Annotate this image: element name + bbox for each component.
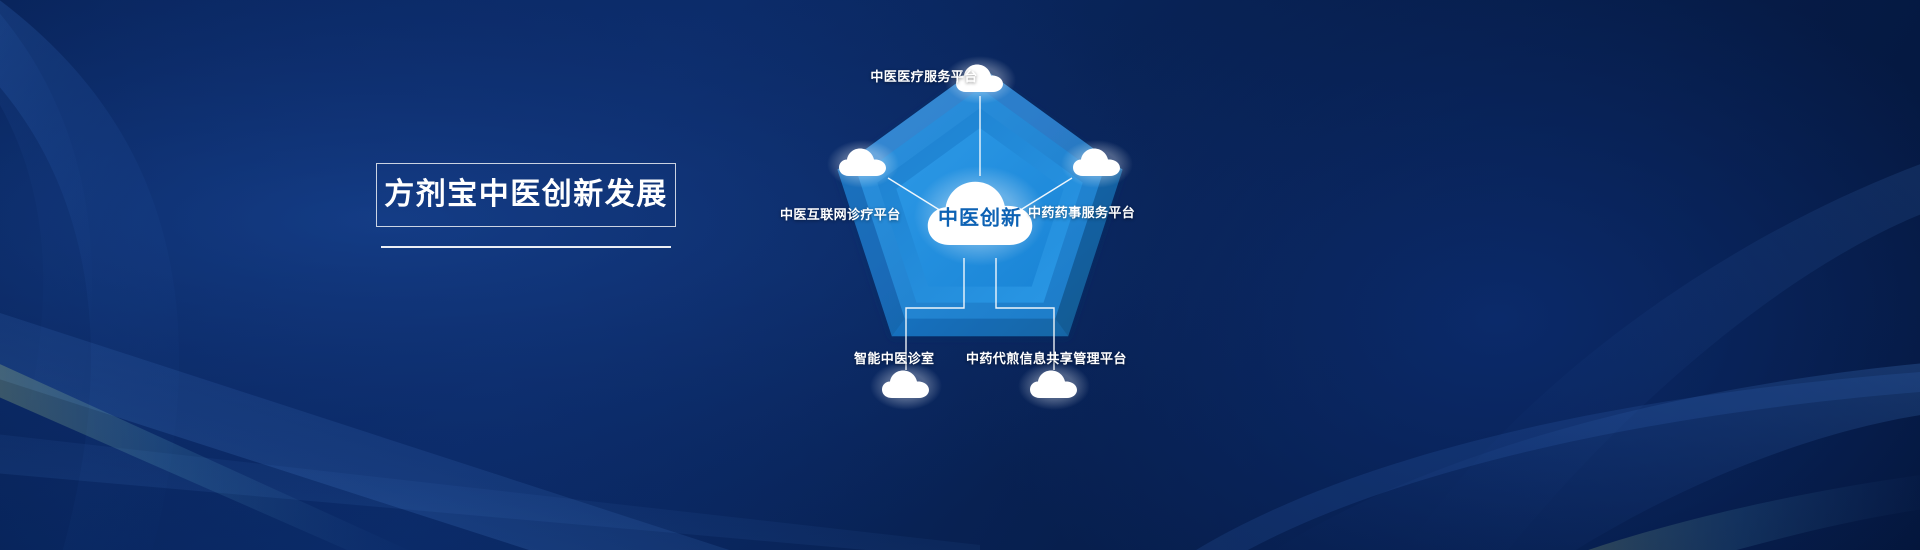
hero-banner: 方剂宝中医创新发展: [0, 0, 1920, 550]
node-icon-bottom-right[interactable]: [1018, 362, 1090, 410]
node-label-top: 中医医疗服务平台: [870, 66, 977, 85]
title-underline: [381, 246, 671, 248]
title-block: 方剂宝中医创新发展: [376, 163, 676, 248]
title-box: 方剂宝中医创新发展: [376, 163, 676, 227]
node-icon-bottom-left[interactable]: [870, 362, 942, 410]
pentagon-diagram: 中医医疗服务平台 中医互联网诊疗平台 中药药事服务平台 智能中医诊室 中药代煎信…: [780, 18, 1540, 418]
node-label-bottom-left: 智能中医诊室: [854, 348, 934, 367]
node-label-left: 中医互联网诊疗平台: [780, 204, 901, 223]
node-label-bottom-right: 中药代煎信息共享管理平台: [966, 348, 1127, 367]
node-icon-left[interactable]: [827, 140, 899, 188]
page-title: 方剂宝中医创新发展: [384, 180, 668, 210]
node-icon-right[interactable]: [1061, 140, 1133, 188]
node-label-right: 中药药事服务平台: [1028, 202, 1135, 221]
center-node-label: 中医创新: [938, 202, 1022, 231]
